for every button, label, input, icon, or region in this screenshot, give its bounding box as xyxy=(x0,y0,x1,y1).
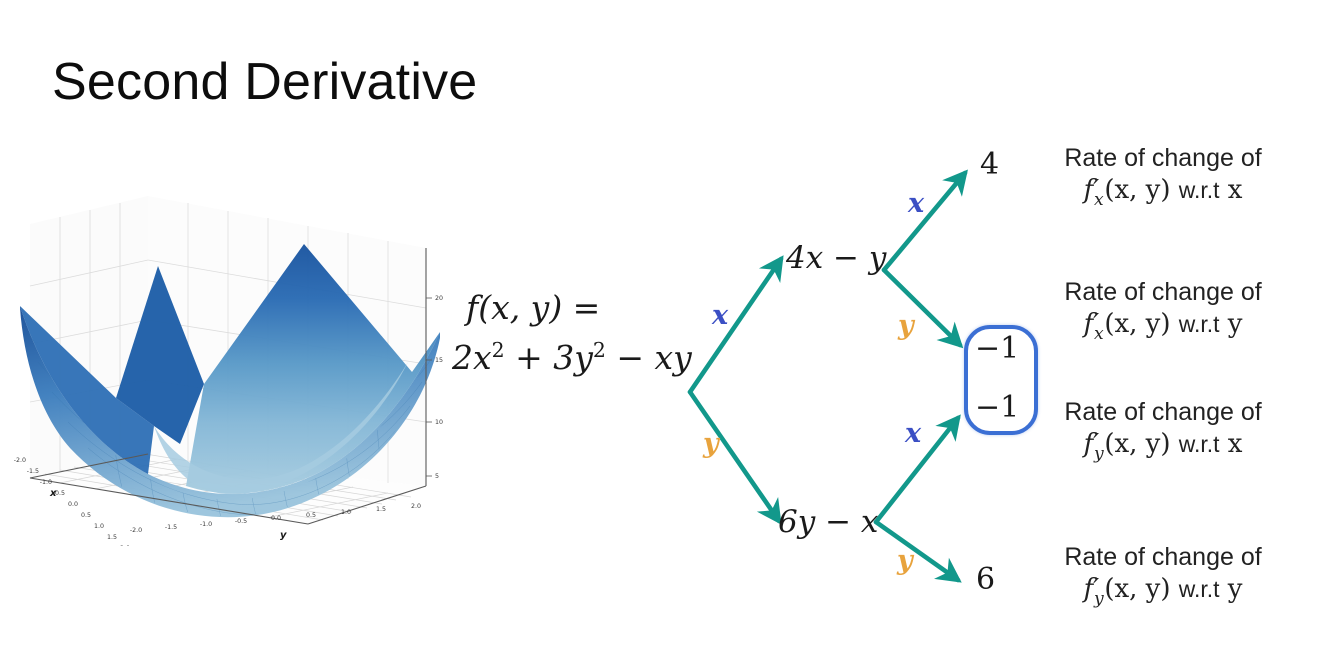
equation-line-1: f(x, y) = xyxy=(452,283,700,333)
leaf-value-fxx: 4 xyxy=(980,147,999,182)
svg-text:1.5: 1.5 xyxy=(107,534,117,541)
description-fxx-line1: Rate of change of xyxy=(1018,142,1308,174)
description-fyy-line1: Rate of change of xyxy=(1018,541,1308,573)
svg-text:-2.0: -2.0 xyxy=(14,457,26,464)
surface-plot-svg: -2.0 -1.5 -1.0 -0.5 0.0 0.5 1.0 1.5 2.0 … xyxy=(8,186,458,546)
description-fxy-line1: Rate of change of xyxy=(1018,276,1308,308)
slide-canvas: Second Derivative xyxy=(0,0,1325,659)
svg-text:2.0: 2.0 xyxy=(120,545,130,546)
surface-plot-figure: -2.0 -1.5 -1.0 -0.5 0.0 0.5 1.0 1.5 2.0 … xyxy=(8,186,458,546)
equation-term-3: − xy xyxy=(606,338,692,377)
svg-text:-2.0: -2.0 xyxy=(130,527,142,534)
node-first-partial-x: 4x − y xyxy=(786,240,886,276)
svg-text:15: 15 xyxy=(435,357,443,364)
arrow-fy-to-fyy xyxy=(876,522,958,580)
svg-text:0.5: 0.5 xyxy=(81,512,91,519)
arrow-fx-to-fxy xyxy=(884,270,960,345)
equation-exponent-1: 2 xyxy=(492,338,505,362)
svg-text:-1.0: -1.0 xyxy=(200,521,212,528)
svg-text:1.5: 1.5 xyxy=(376,506,386,513)
edge-label-y-fxy: y xyxy=(898,310,914,341)
page-title: Second Derivative xyxy=(52,52,477,112)
edge-label-x-fxx: x xyxy=(908,188,924,219)
description-fxx-line2: f′x(x, y) w.r.t x xyxy=(1018,174,1308,212)
description-fyx: Rate of change of f′y(x, y) w.r.t x xyxy=(1018,396,1308,466)
arrow-root-to-fx xyxy=(690,259,781,392)
svg-text:0.0: 0.0 xyxy=(271,515,281,522)
svg-text:2.0: 2.0 xyxy=(411,503,421,510)
edge-label-x-level1: x xyxy=(712,300,728,331)
svg-text:10: 10 xyxy=(435,419,443,426)
leaf-value-fyy: 6 xyxy=(976,562,995,597)
svg-text:20: 20 xyxy=(435,295,443,302)
svg-text:-1.5: -1.5 xyxy=(165,524,177,531)
svg-text:0.5: 0.5 xyxy=(306,512,316,519)
svg-text:-1.5: -1.5 xyxy=(27,468,39,475)
arrow-fx-to-fxx xyxy=(884,173,965,270)
x-axis-label: x xyxy=(49,488,57,499)
z-axis-ticks: 20 15 10 5 xyxy=(435,295,443,480)
edge-label-x-fyx: x xyxy=(905,418,921,449)
description-fyy: Rate of change of f′y(x, y) w.r.t y xyxy=(1018,541,1308,611)
svg-text:-0.5: -0.5 xyxy=(235,518,247,525)
description-fyy-line2: f′y(x, y) w.r.t y xyxy=(1018,573,1308,611)
equation-line-2: 2x2 + 3y2 − xy xyxy=(452,333,700,383)
description-fyx-line2: f′y(x, y) w.r.t x xyxy=(1018,428,1308,466)
svg-text:0.0: 0.0 xyxy=(68,501,78,508)
svg-text:1.0: 1.0 xyxy=(341,509,351,516)
equation-term-1: 2x xyxy=(452,338,492,377)
svg-text:5: 5 xyxy=(435,473,439,480)
description-fxy: Rate of change of f′x(x, y) w.r.t y xyxy=(1018,276,1308,346)
svg-text:1.0: 1.0 xyxy=(94,523,104,530)
description-fxy-line2: f′x(x, y) w.r.t y xyxy=(1018,308,1308,346)
edge-label-y-fyy: y xyxy=(897,545,913,576)
description-fyx-line1: Rate of change of xyxy=(1018,396,1308,428)
description-fxx: Rate of change of f′x(x, y) w.r.t x xyxy=(1018,142,1308,212)
node-first-partial-y: 6y − x xyxy=(778,504,878,540)
svg-text:-1.0: -1.0 xyxy=(40,479,52,486)
function-equation: f(x, y) = 2x2 + 3y2 − xy xyxy=(452,283,700,383)
z-tick-marks xyxy=(426,298,432,476)
edge-label-y-level1: y xyxy=(703,428,719,459)
equation-exponent-2: 2 xyxy=(593,338,606,362)
y-axis-label: y xyxy=(280,530,287,541)
equation-term-2: + 3y xyxy=(505,338,593,377)
